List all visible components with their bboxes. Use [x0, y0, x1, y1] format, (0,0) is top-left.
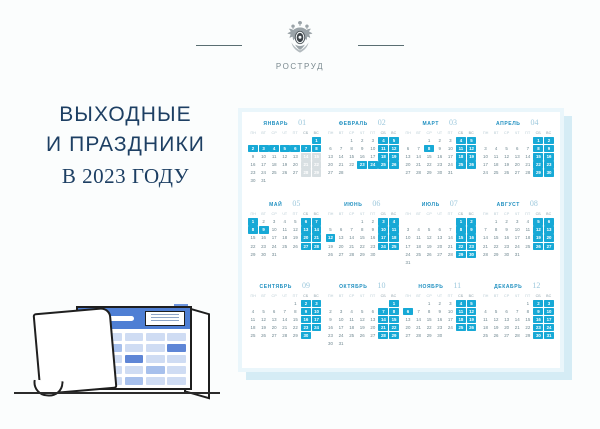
day-cell[interactable]: 3 — [445, 300, 455, 307]
day-cell[interactable]: 24 — [544, 324, 554, 331]
day-cell[interactable]: 28 — [512, 332, 522, 339]
day-cell[interactable]: 1 — [357, 218, 367, 225]
day-cell[interactable]: 18 — [456, 316, 466, 323]
day-cell[interactable]: 30 — [502, 251, 512, 258]
day-cell[interactable]: 28 — [280, 332, 290, 339]
day-cell[interactable]: 29 — [523, 332, 533, 339]
day-cell[interactable]: 29 — [491, 251, 501, 258]
day-cell[interactable]: 22 — [491, 243, 501, 250]
day-cell[interactable]: 13 — [403, 316, 413, 323]
day-cell[interactable]: 11 — [523, 226, 533, 233]
day-cell[interactable]: 9 — [326, 316, 336, 323]
day-cell[interactable]: 16 — [248, 161, 258, 168]
day-cell[interactable]: 24 — [445, 324, 455, 331]
day-cell[interactable]: 8 — [357, 226, 367, 233]
day-cell[interactable]: 16 — [467, 234, 477, 241]
day-cell[interactable]: 30 — [326, 340, 336, 347]
day-cell[interactable]: 15 — [456, 234, 466, 241]
day-cell[interactable]: 5 — [502, 145, 512, 152]
day-cell[interactable]: 22 — [357, 243, 367, 250]
day-cell[interactable]: 8 — [456, 226, 466, 233]
day-cell[interactable]: 13 — [435, 234, 445, 241]
day-cell[interactable]: 27 — [502, 332, 512, 339]
day-cell[interactable]: 1 — [456, 218, 466, 225]
day-cell[interactable]: 12 — [280, 153, 290, 160]
day-cell[interactable]: 2 — [544, 137, 554, 144]
day-cell[interactable]: 5 — [467, 300, 477, 307]
day-cell[interactable]: 28 — [301, 169, 311, 176]
day-cell[interactable]: 31 — [544, 332, 554, 339]
day-cell[interactable]: 23 — [259, 243, 269, 250]
day-cell[interactable]: 13 — [403, 153, 413, 160]
day-cell[interactable]: 3 — [512, 218, 522, 225]
day-cell[interactable]: 20 — [502, 324, 512, 331]
day-cell[interactable]: 20 — [290, 161, 300, 168]
day-cell[interactable]: 3 — [312, 300, 322, 307]
day-cell[interactable]: 22 — [424, 161, 434, 168]
day-cell[interactable]: 19 — [290, 234, 300, 241]
day-cell[interactable]: 14 — [414, 153, 424, 160]
day-cell[interactable]: 10 — [481, 153, 491, 160]
day-cell[interactable]: 18 — [389, 234, 399, 241]
day-cell[interactable]: 17 — [481, 161, 491, 168]
day-cell[interactable]: 31 — [269, 251, 279, 258]
day-cell[interactable]: 4 — [378, 137, 388, 144]
day-cell[interactable]: 11 — [491, 153, 501, 160]
day-cell[interactable]: 24 — [368, 161, 378, 168]
day-cell[interactable]: 2 — [533, 300, 543, 307]
day-cell[interactable]: 6 — [544, 218, 554, 225]
day-cell[interactable]: 6 — [403, 145, 413, 152]
day-cell[interactable]: 23 — [326, 332, 336, 339]
day-cell[interactable]: 21 — [414, 324, 424, 331]
day-cell[interactable]: 17 — [445, 316, 455, 323]
day-cell[interactable]: 9 — [544, 145, 554, 152]
day-cell[interactable]: 15 — [290, 316, 300, 323]
day-cell[interactable]: 13 — [502, 316, 512, 323]
day-cell[interactable]: 30 — [301, 332, 311, 339]
day-cell[interactable]: 19 — [389, 153, 399, 160]
day-cell[interactable]: 20 — [301, 234, 311, 241]
day-cell[interactable]: 23 — [368, 243, 378, 250]
day-cell[interactable]: 12 — [533, 226, 543, 233]
day-cell[interactable]: 11 — [280, 226, 290, 233]
day-cell[interactable]: 29 — [456, 251, 466, 258]
day-cell[interactable]: 28 — [445, 251, 455, 258]
day-cell[interactable]: 15 — [347, 153, 357, 160]
day-cell[interactable]: 13 — [512, 153, 522, 160]
day-cell[interactable]: 14 — [523, 153, 533, 160]
day-cell[interactable]: 19 — [326, 243, 336, 250]
day-cell[interactable]: 9 — [467, 226, 477, 233]
day-cell[interactable]: 8 — [312, 145, 322, 152]
day-cell[interactable]: 10 — [259, 153, 269, 160]
day-cell[interactable]: 12 — [326, 234, 336, 241]
day-cell[interactable]: 28 — [481, 251, 491, 258]
day-cell[interactable]: 20 — [336, 243, 346, 250]
day-cell[interactable]: 25 — [491, 169, 501, 176]
day-cell[interactable]: 26 — [424, 251, 434, 258]
day-cell[interactable]: 2 — [259, 218, 269, 225]
day-cell[interactable]: 27 — [403, 332, 413, 339]
day-cell[interactable]: 12 — [502, 153, 512, 160]
day-cell[interactable]: 4 — [269, 145, 279, 152]
day-cell[interactable]: 18 — [481, 324, 491, 331]
day-cell[interactable]: 26 — [467, 324, 477, 331]
day-cell[interactable]: 3 — [544, 300, 554, 307]
day-cell[interactable]: 5 — [424, 226, 434, 233]
day-cell[interactable]: 21 — [336, 161, 346, 168]
day-cell[interactable]: 12 — [389, 145, 399, 152]
day-cell[interactable]: 20 — [544, 234, 554, 241]
day-cell[interactable]: 19 — [533, 234, 543, 241]
day-cell[interactable]: 16 — [435, 153, 445, 160]
day-cell[interactable]: 16 — [368, 234, 378, 241]
day-cell[interactable]: 7 — [301, 145, 311, 152]
day-cell[interactable]: 11 — [248, 316, 258, 323]
day-cell[interactable]: 9 — [533, 308, 543, 315]
day-cell[interactable]: 23 — [533, 324, 543, 331]
day-cell[interactable]: 4 — [523, 218, 533, 225]
day-cell[interactable]: 2 — [248, 145, 258, 152]
day-cell[interactable]: 21 — [378, 324, 388, 331]
day-cell[interactable]: 25 — [456, 324, 466, 331]
day-cell[interactable]: 29 — [290, 332, 300, 339]
day-cell[interactable]: 28 — [347, 251, 357, 258]
day-cell[interactable]: 3 — [336, 308, 346, 315]
day-cell[interactable]: 8 — [523, 308, 533, 315]
day-cell[interactable]: 17 — [378, 234, 388, 241]
day-cell[interactable]: 14 — [347, 234, 357, 241]
day-cell[interactable]: 25 — [378, 161, 388, 168]
day-cell[interactable]: 3 — [403, 226, 413, 233]
day-cell[interactable]: 7 — [378, 308, 388, 315]
day-cell[interactable]: 17 — [336, 324, 346, 331]
month-02[interactable]: ФЕВРАЛЬ02ПНВТСРЧТПТСБВС..123456789101112… — [324, 118, 402, 199]
day-cell[interactable]: 16 — [357, 153, 367, 160]
day-cell[interactable]: 8 — [424, 308, 434, 315]
day-cell[interactable]: 10 — [378, 226, 388, 233]
month-12[interactable]: ДЕКАБРЬ12ПНВТСРЧТПТСБВС....1234567891011… — [479, 281, 557, 362]
day-cell[interactable]: 30 — [259, 251, 269, 258]
day-cell[interactable]: 20 — [435, 243, 445, 250]
day-cell[interactable]: 20 — [326, 161, 336, 168]
day-cell[interactable]: 31 — [403, 259, 413, 266]
day-cell[interactable]: 13 — [290, 153, 300, 160]
day-cell[interactable]: 19 — [259, 324, 269, 331]
day-cell[interactable]: 2 — [326, 308, 336, 315]
day-cell[interactable]: 28 — [312, 243, 322, 250]
day-cell[interactable]: 15 — [357, 234, 367, 241]
day-cell[interactable]: 28 — [378, 332, 388, 339]
day-cell[interactable]: 15 — [533, 153, 543, 160]
day-cell[interactable]: 12 — [357, 316, 367, 323]
day-cell[interactable]: 1 — [312, 137, 322, 144]
day-cell[interactable]: 6 — [269, 308, 279, 315]
day-cell[interactable]: 31 — [336, 340, 346, 347]
day-cell[interactable]: 17 — [312, 316, 322, 323]
day-cell[interactable]: 12 — [491, 316, 501, 323]
day-cell[interactable]: 17 — [512, 234, 522, 241]
month-07[interactable]: ИЮЛЬ07ПНВТСРЧТПТСБВС.....123456789101112… — [401, 199, 479, 280]
day-cell[interactable]: 16 — [326, 324, 336, 331]
day-cell[interactable]: 20 — [368, 324, 378, 331]
day-cell[interactable]: 8 — [347, 145, 357, 152]
month-06[interactable]: ИЮНЬ06ПНВТСРЧТПТСБВС...12345678910111213… — [324, 199, 402, 280]
day-cell[interactable]: 16 — [301, 316, 311, 323]
day-cell[interactable]: 25 — [248, 332, 258, 339]
day-cell[interactable]: 5 — [491, 308, 501, 315]
day-cell[interactable]: 6 — [502, 308, 512, 315]
day-cell[interactable]: 4 — [248, 308, 258, 315]
day-cell[interactable]: 7 — [312, 218, 322, 225]
day-cell[interactable]: 31 — [259, 177, 269, 184]
day-cell[interactable]: 14 — [481, 234, 491, 241]
day-cell[interactable]: 6 — [435, 226, 445, 233]
day-cell[interactable]: 18 — [280, 234, 290, 241]
day-cell[interactable]: 7 — [512, 308, 522, 315]
day-cell[interactable]: 15 — [424, 316, 434, 323]
day-cell[interactable]: 19 — [502, 161, 512, 168]
day-cell[interactable]: 15 — [523, 316, 533, 323]
day-cell[interactable]: 19 — [467, 153, 477, 160]
day-cell[interactable]: 14 — [312, 226, 322, 233]
month-04[interactable]: АПРЕЛЬ04ПНВТСРЧТПТСБВС.....1234567891011… — [479, 118, 557, 199]
day-cell[interactable]: 27 — [290, 169, 300, 176]
day-cell[interactable]: 11 — [347, 316, 357, 323]
day-cell[interactable]: 14 — [336, 153, 346, 160]
day-cell[interactable]: 22 — [312, 161, 322, 168]
day-cell[interactable]: 22 — [248, 243, 258, 250]
day-cell[interactable]: 4 — [347, 308, 357, 315]
day-cell[interactable]: 25 — [389, 243, 399, 250]
day-cell[interactable]: 21 — [347, 243, 357, 250]
day-cell[interactable]: 10 — [544, 308, 554, 315]
day-cell[interactable]: 2 — [301, 300, 311, 307]
day-cell[interactable]: 27 — [326, 169, 336, 176]
day-cell[interactable]: 23 — [467, 243, 477, 250]
day-cell[interactable]: 2 — [502, 218, 512, 225]
day-cell[interactable]: 18 — [523, 234, 533, 241]
day-cell[interactable]: 29 — [357, 251, 367, 258]
day-cell[interactable]: 6 — [290, 145, 300, 152]
day-cell[interactable]: 25 — [523, 243, 533, 250]
day-cell[interactable]: 10 — [269, 226, 279, 233]
day-cell[interactable]: 9 — [259, 226, 269, 233]
day-cell[interactable]: 12 — [467, 308, 477, 315]
day-cell[interactable]: 9 — [368, 226, 378, 233]
day-cell[interactable]: 26 — [533, 243, 543, 250]
day-cell[interactable]: 9 — [435, 145, 445, 152]
day-cell[interactable]: 28 — [523, 169, 533, 176]
day-cell[interactable]: 26 — [467, 161, 477, 168]
day-cell[interactable]: 11 — [456, 308, 466, 315]
day-cell[interactable]: 22 — [424, 324, 434, 331]
day-cell[interactable]: 12 — [424, 234, 434, 241]
day-cell[interactable]: 13 — [544, 226, 554, 233]
day-cell[interactable]: 25 — [280, 243, 290, 250]
day-cell[interactable]: 3 — [269, 218, 279, 225]
day-cell[interactable]: 5 — [467, 137, 477, 144]
day-cell[interactable]: 5 — [357, 308, 367, 315]
day-cell[interactable]: 6 — [403, 308, 413, 315]
day-cell[interactable]: 24 — [481, 169, 491, 176]
month-03[interactable]: МАРТ03ПНВТСРЧТПТСБВС..123456789101112131… — [401, 118, 479, 199]
day-cell[interactable]: 29 — [312, 169, 322, 176]
day-cell[interactable]: 21 — [280, 324, 290, 331]
day-cell[interactable]: 14 — [445, 234, 455, 241]
day-cell[interactable]: 7 — [336, 145, 346, 152]
day-cell[interactable]: 7 — [445, 226, 455, 233]
day-cell[interactable]: 30 — [533, 332, 543, 339]
day-cell[interactable]: 4 — [456, 300, 466, 307]
day-cell[interactable]: 5 — [326, 226, 336, 233]
day-cell[interactable]: 22 — [347, 161, 357, 168]
day-cell[interactable]: 30 — [467, 251, 477, 258]
day-cell[interactable]: 8 — [533, 145, 543, 152]
day-cell[interactable]: 5 — [280, 145, 290, 152]
day-cell[interactable]: 9 — [502, 226, 512, 233]
day-cell[interactable]: 26 — [326, 251, 336, 258]
day-cell[interactable]: 8 — [290, 308, 300, 315]
day-cell[interactable]: 6 — [368, 308, 378, 315]
day-cell[interactable]: 13 — [269, 316, 279, 323]
day-cell[interactable]: 18 — [378, 153, 388, 160]
day-cell[interactable]: 17 — [445, 153, 455, 160]
day-cell[interactable]: 22 — [290, 324, 300, 331]
day-cell[interactable]: 29 — [424, 332, 434, 339]
day-cell[interactable]: 22 — [389, 324, 399, 331]
day-cell[interactable]: 23 — [357, 161, 367, 168]
day-cell[interactable]: 26 — [502, 169, 512, 176]
day-cell[interactable]: 23 — [435, 161, 445, 168]
day-cell[interactable]: 25 — [269, 169, 279, 176]
day-cell[interactable]: 21 — [414, 161, 424, 168]
day-cell[interactable]: 8 — [389, 308, 399, 315]
day-cell[interactable]: 24 — [312, 324, 322, 331]
day-cell[interactable]: 7 — [414, 145, 424, 152]
day-cell[interactable]: 4 — [414, 226, 424, 233]
day-cell[interactable]: 27 — [336, 251, 346, 258]
day-cell[interactable]: 2 — [435, 300, 445, 307]
day-cell[interactable]: 30 — [544, 169, 554, 176]
day-cell[interactable]: 7 — [280, 308, 290, 315]
day-cell[interactable]: 23 — [544, 161, 554, 168]
day-cell[interactable]: 27 — [403, 169, 413, 176]
day-cell[interactable]: 6 — [512, 145, 522, 152]
day-cell[interactable]: 6 — [336, 226, 346, 233]
day-cell[interactable]: 14 — [378, 316, 388, 323]
day-cell[interactable]: 1 — [424, 137, 434, 144]
day-cell[interactable]: 16 — [502, 234, 512, 241]
day-cell[interactable]: 18 — [414, 243, 424, 250]
day-cell[interactable]: 27 — [269, 332, 279, 339]
day-cell[interactable]: 1 — [389, 300, 399, 307]
day-cell[interactable]: 3 — [378, 218, 388, 225]
day-cell[interactable]: 21 — [312, 234, 322, 241]
day-cell[interactable]: 4 — [481, 308, 491, 315]
day-cell[interactable]: 20 — [403, 161, 413, 168]
day-cell[interactable]: 5 — [389, 137, 399, 144]
month-11[interactable]: НОЯБРЬ11ПНВТСРЧТПТСБВС..1234567891011121… — [401, 281, 479, 362]
day-cell[interactable]: 10 — [512, 226, 522, 233]
day-cell[interactable]: 7 — [347, 226, 357, 233]
day-cell[interactable]: 3 — [368, 137, 378, 144]
day-cell[interactable]: 10 — [368, 145, 378, 152]
day-cell[interactable]: 11 — [456, 145, 466, 152]
day-cell[interactable]: 17 — [403, 243, 413, 250]
day-cell[interactable]: 19 — [357, 324, 367, 331]
day-cell[interactable]: 8 — [424, 145, 434, 152]
day-cell[interactable]: 5 — [290, 218, 300, 225]
month-09[interactable]: СЕНТЯБРЬ09ПНВТСРЧТПТСБВС....123456789101… — [246, 281, 324, 362]
day-cell[interactable]: 15 — [491, 234, 501, 241]
day-cell[interactable]: 10 — [312, 308, 322, 315]
day-cell[interactable]: 22 — [456, 243, 466, 250]
day-cell[interactable]: 10 — [445, 308, 455, 315]
day-cell[interactable]: 2 — [357, 137, 367, 144]
day-cell[interactable]: 21 — [301, 161, 311, 168]
day-cell[interactable]: 11 — [481, 316, 491, 323]
day-cell[interactable]: 12 — [259, 316, 269, 323]
day-cell[interactable]: 27 — [512, 169, 522, 176]
day-cell[interactable]: 15 — [424, 153, 434, 160]
day-cell[interactable]: 18 — [491, 161, 501, 168]
day-cell[interactable]: 14 — [414, 316, 424, 323]
day-cell[interactable]: 15 — [312, 153, 322, 160]
day-cell[interactable]: 10 — [403, 234, 413, 241]
day-cell[interactable]: 28 — [414, 332, 424, 339]
day-cell[interactable]: 14 — [280, 316, 290, 323]
day-cell[interactable]: 6 — [301, 218, 311, 225]
day-cell[interactable]: 1 — [248, 218, 258, 225]
day-cell[interactable]: 29 — [424, 169, 434, 176]
day-cell[interactable]: 27 — [544, 243, 554, 250]
day-cell[interactable]: 13 — [326, 153, 336, 160]
day-cell[interactable]: 17 — [544, 316, 554, 323]
month-05[interactable]: МАЙ05ПНВТСРЧТПТСБВС123456789101112131415… — [246, 199, 324, 280]
day-cell[interactable]: 15 — [389, 316, 399, 323]
day-cell[interactable]: 27 — [368, 332, 378, 339]
day-cell[interactable]: 17 — [259, 161, 269, 168]
day-cell[interactable]: 8 — [491, 226, 501, 233]
day-cell[interactable]: 22 — [523, 324, 533, 331]
day-cell[interactable]: 30 — [368, 251, 378, 258]
day-cell[interactable]: 14 — [301, 153, 311, 160]
day-cell[interactable]: 10 — [445, 145, 455, 152]
day-cell[interactable]: 19 — [491, 324, 501, 331]
day-cell[interactable]: 26 — [357, 332, 367, 339]
day-cell[interactable]: 3 — [259, 145, 269, 152]
day-cell[interactable]: 15 — [248, 234, 258, 241]
day-cell[interactable]: 19 — [467, 316, 477, 323]
day-cell[interactable]: 18 — [269, 161, 279, 168]
day-cell[interactable]: 13 — [301, 226, 311, 233]
day-cell[interactable]: 16 — [544, 153, 554, 160]
day-cell[interactable]: 23 — [301, 324, 311, 331]
day-cell[interactable]: 1 — [533, 137, 543, 144]
day-cell[interactable]: 5 — [533, 218, 543, 225]
day-cell[interactable]: 5 — [259, 308, 269, 315]
day-cell[interactable]: 1 — [424, 300, 434, 307]
day-cell[interactable]: 3 — [481, 145, 491, 152]
day-cell[interactable]: 24 — [512, 243, 522, 250]
day-cell[interactable]: 25 — [456, 161, 466, 168]
day-cell[interactable]: 31 — [512, 251, 522, 258]
day-cell[interactable]: 27 — [301, 243, 311, 250]
day-cell[interactable]: 9 — [357, 145, 367, 152]
day-cell[interactable]: 19 — [280, 161, 290, 168]
